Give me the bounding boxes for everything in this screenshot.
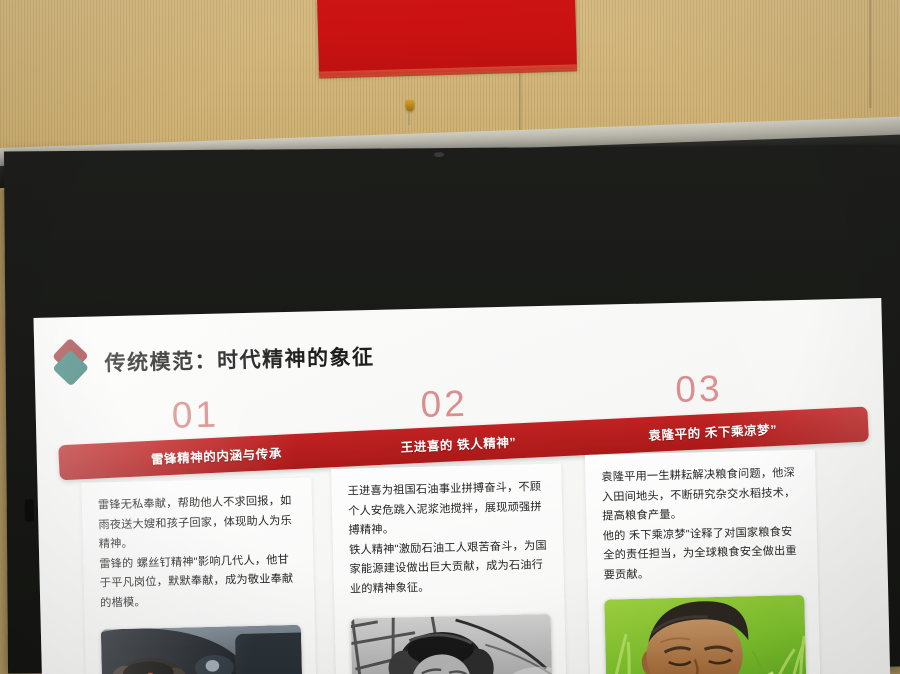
screen-frame-clip xyxy=(25,499,34,521)
lei-feng-soldier-photo xyxy=(101,625,304,674)
screen-sensor-icon xyxy=(434,152,444,157)
card-wang-jinxi: 王进喜为祖国石油事业拼搏奋斗，不顾个人安危跳入泥浆池搅拌，展现顽强拼搏精神。 铁… xyxy=(331,464,568,674)
photo-of-presentation-screen: 传统模范：时代精神的象征 01 02 03 雷锋精神的内涵与传承 王进喜的 铁人… xyxy=(0,0,900,674)
card-yuan-longping: 袁隆平用一生耕耘解决粮食问题，他深入田间地头，不断研究杂交水稻技术，提高粮食产量… xyxy=(585,450,822,674)
card-body-text: 雷锋无私奉献，帮助他人不求回报，如雨夜送大嫂和孩子回家，体现助人为乐精神。 雷锋… xyxy=(81,477,314,618)
card-body-text: 袁隆平用一生耕耘解决粮食问题，他深入田间地头，不断研究杂交水稻技术，提高粮食产量… xyxy=(585,450,818,591)
wall-panel-seam xyxy=(869,0,872,108)
content-card-row: 雷锋无私奉献，帮助他人不求回报，如雨夜送大嫂和孩子回家，体现助人为乐精神。 雷锋… xyxy=(33,298,892,674)
projection-screen-frame: 传统模范：时代精神的象征 01 02 03 雷锋精神的内涵与传承 王进喜的 铁人… xyxy=(4,144,900,673)
card-lei-feng: 雷锋无私奉献，帮助他人不求回报，如雨夜送大嫂和孩子回家，体现助人为乐精神。 雷锋… xyxy=(81,477,318,674)
yuan-longping-rice-field-photo xyxy=(604,595,808,674)
red-hanging-cloth xyxy=(317,0,577,76)
presentation-slide: 传统模范：时代精神的象征 01 02 03 雷锋精神的内涵与传承 王进喜的 铁人… xyxy=(33,298,892,674)
wang-jinxi-oil-worker-photo xyxy=(351,614,554,674)
wall-hook-icon xyxy=(406,100,414,111)
card-body-text: 王进喜为祖国石油事业拼搏奋斗，不顾个人安危跳入泥浆池搅拌，展现顽强拼搏精神。 铁… xyxy=(331,464,564,605)
